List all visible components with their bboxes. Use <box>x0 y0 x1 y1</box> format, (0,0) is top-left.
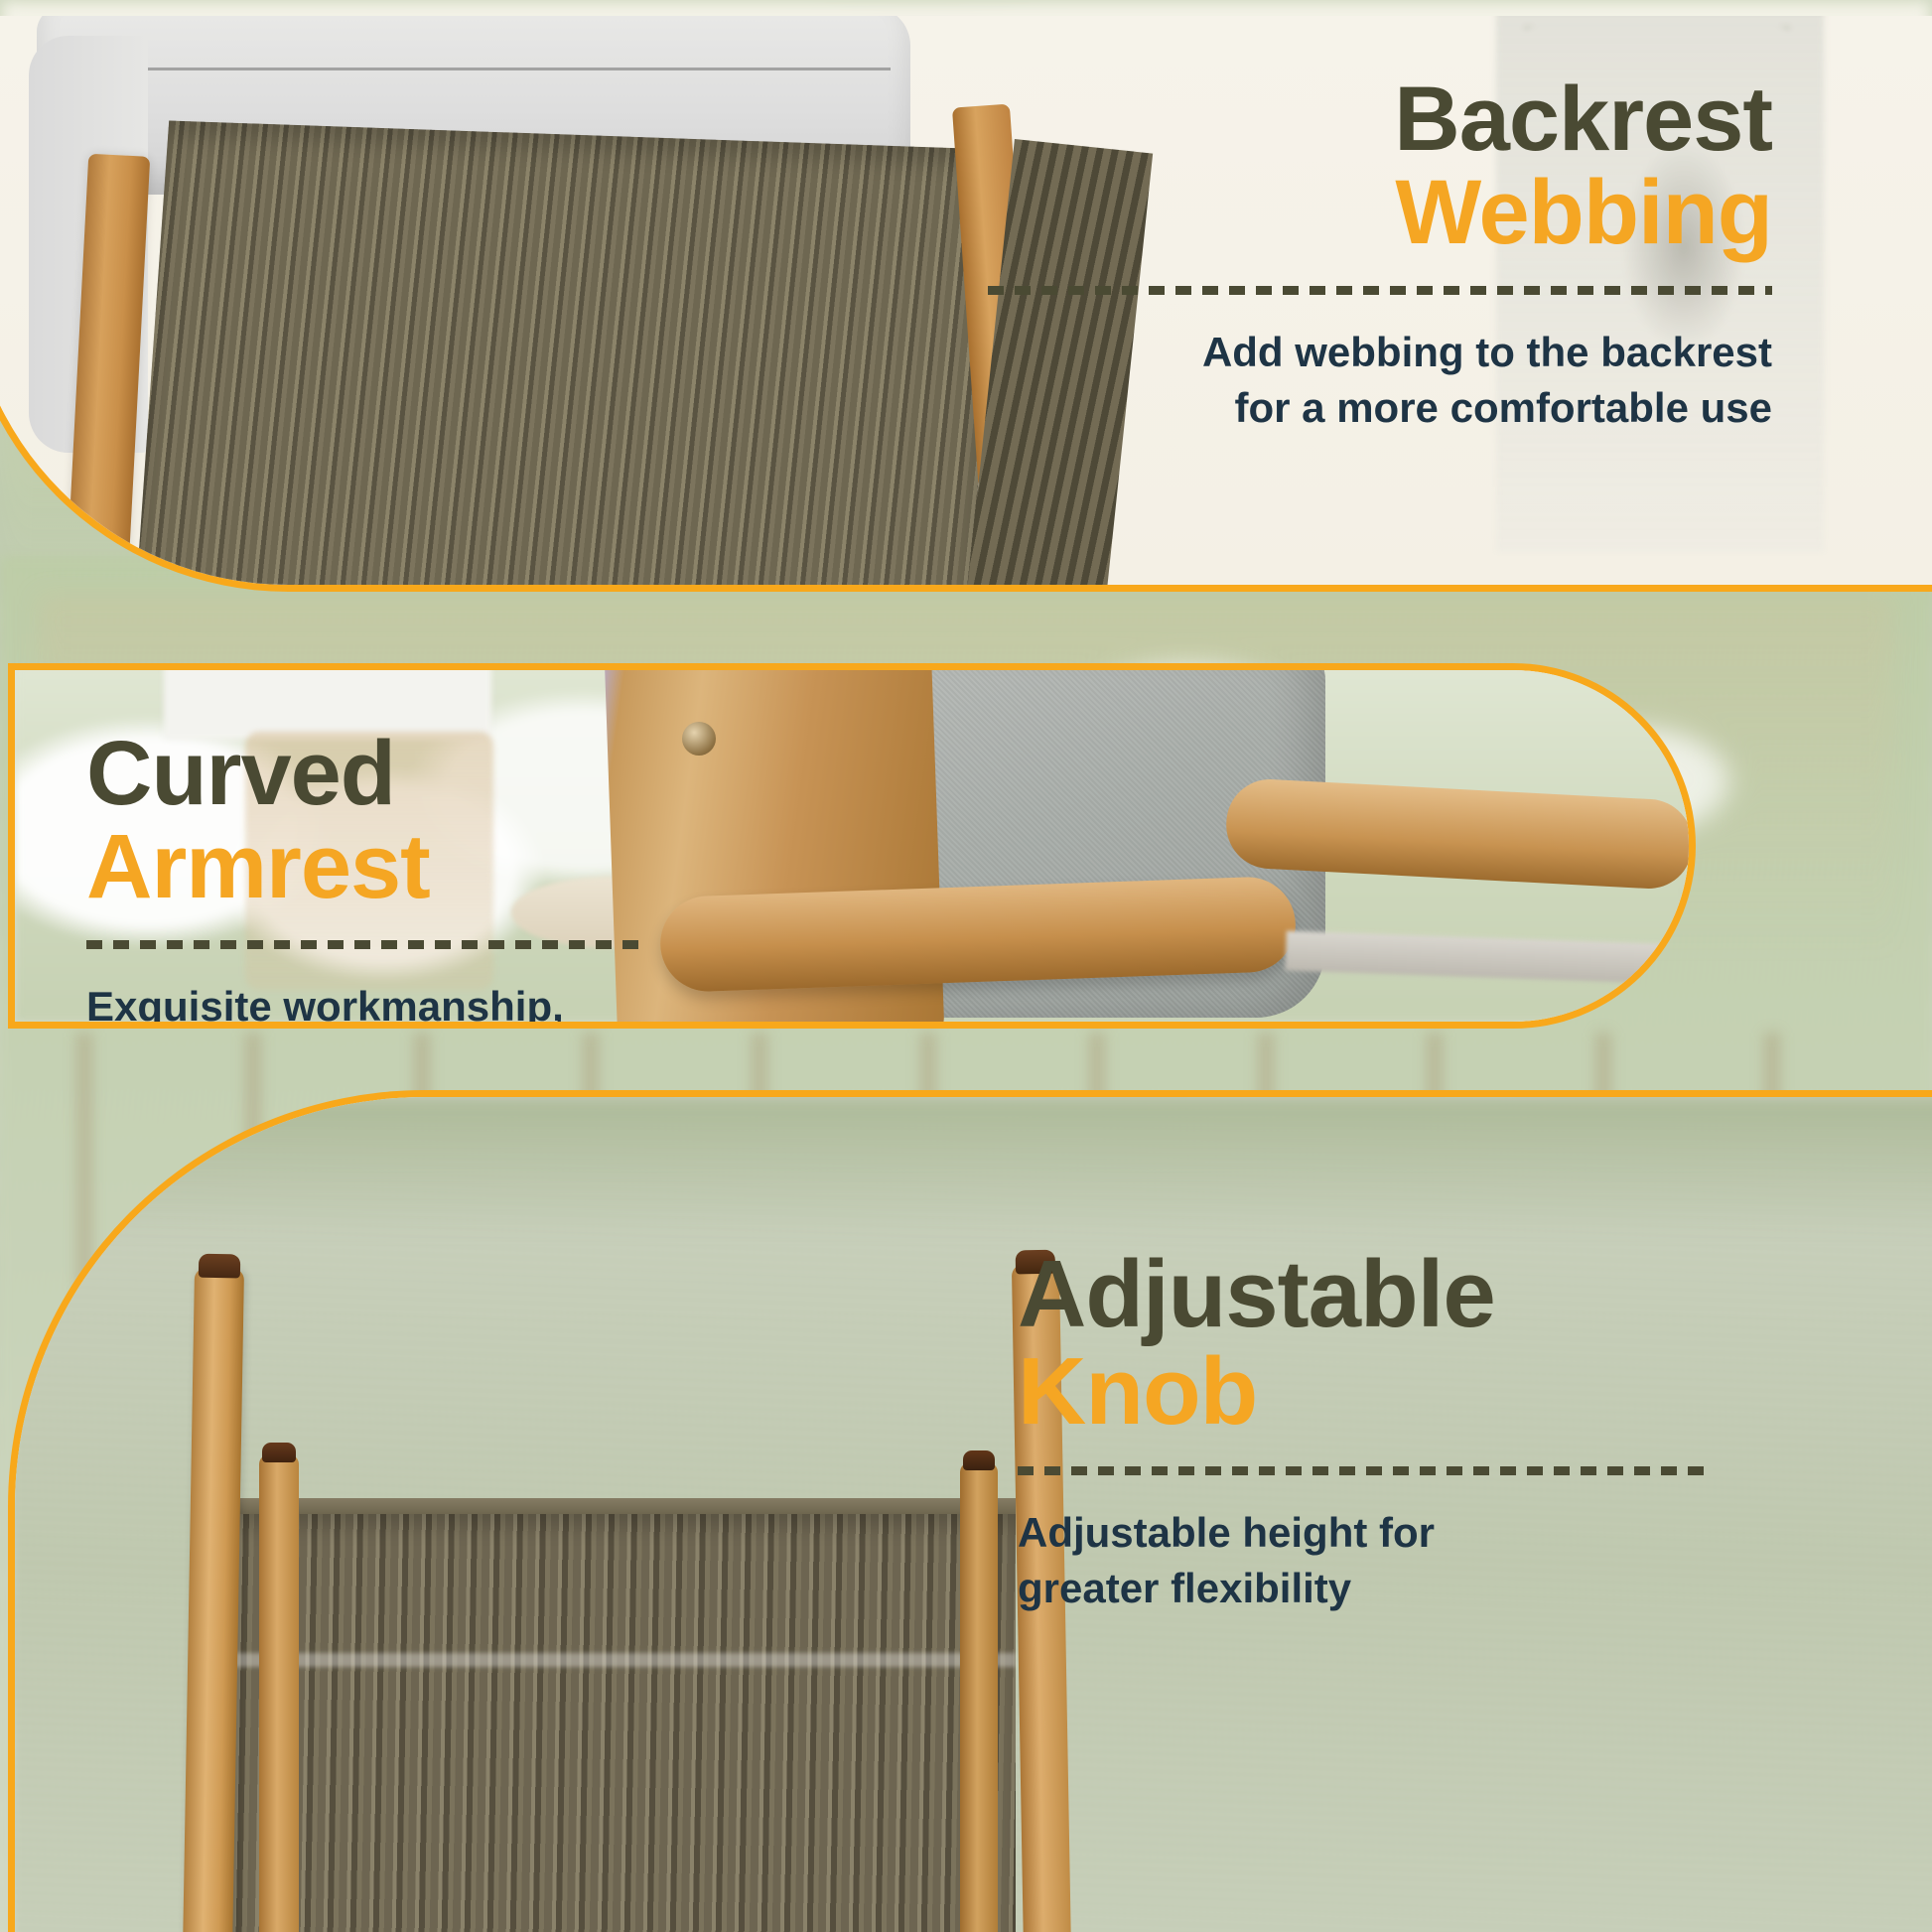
panel-3-copy-block: Adjustable Knob Adjustable height for gr… <box>1018 1246 1931 1616</box>
panel-2-heading-line2: Armrest <box>86 821 742 914</box>
infographic-canvas: Backrest Webbing Add webbing to the back… <box>0 0 1932 1932</box>
panel-3-dashed-divider <box>1018 1466 1713 1475</box>
chair-leg-rear-left <box>259 1454 299 1932</box>
panel-1-copy-block: Backrest Webbing Add webbing to the back… <box>988 73 1772 435</box>
hedge-blur <box>15 1097 1932 1236</box>
seat-rope-webbing <box>231 1514 1016 1932</box>
panel-1-heading-line2: Webbing <box>988 167 1772 260</box>
feature-panel-adjustable-knob[interactable]: Adjustable Knob Adjustable height for gr… <box>8 1090 1932 1932</box>
panel-2-copy-block: Curved Armrest Exquisite workmanship, wi… <box>86 728 742 1029</box>
panel-3-heading-line1: Adjustable <box>1018 1246 1931 1343</box>
rope-webbing-surface <box>134 120 1001 585</box>
panel-3-heading-line2: Knob <box>1018 1343 1931 1441</box>
feature-panel-curved-armrest[interactable]: Curved Armrest Exquisite workmanship, wi… <box>8 663 1696 1029</box>
seat-webbing-highlight <box>231 1653 1016 1667</box>
panel-2-body-text: Exquisite workmanship, with a sense of d… <box>86 979 742 1029</box>
panel-2-heading-line1: Curved <box>86 728 742 821</box>
panel-1-dashed-divider <box>988 286 1772 295</box>
chair-leg-rear-right <box>960 1462 998 1932</box>
feature-panel-backrest-webbing[interactable]: Backrest Webbing Add webbing to the back… <box>0 16 1932 592</box>
panel-1-heading-line1: Backrest <box>988 73 1772 167</box>
panel-3-body-text: Adjustable height for greater flexibilit… <box>1018 1505 1931 1616</box>
panel-2-dashed-divider <box>86 940 642 949</box>
panel-1-body-text: Add webbing to the backrest for a more c… <box>988 325 1772 436</box>
